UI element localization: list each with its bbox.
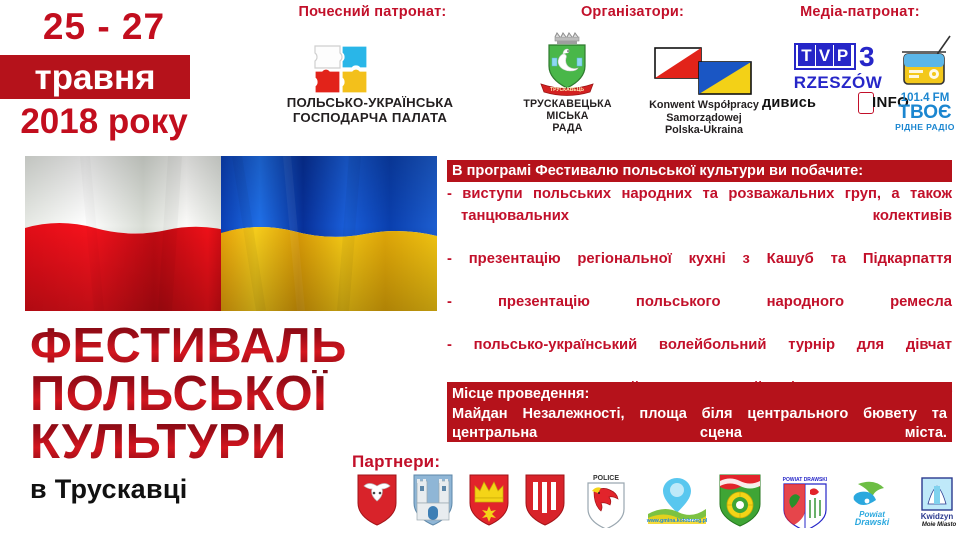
radio-receiver-icon	[896, 34, 958, 92]
powiat-drawski-caption: POWIAT DRAWSKI	[783, 477, 828, 483]
poster-root: 25 - 27 травня 2018 року Почесний патрон…	[0, 0, 960, 542]
tvp-city: RZESZÓW	[762, 73, 914, 93]
title-line-2: ПОЛЬСЬКОЇ	[30, 370, 430, 418]
kwidzyn-logo-icon: Kwidzyn Moje Miasto	[908, 474, 960, 531]
venue-address: Майдан Незалежності, площа біля централь…	[452, 405, 947, 464]
radio-subtitle: РІДНЕ РАДІО	[890, 122, 960, 132]
date-days: 25 - 27	[0, 6, 208, 48]
puzzle-icon	[309, 42, 387, 100]
partners-label: Партнери:	[352, 452, 440, 472]
organizer1-name-line1: ТРУСКАВЕЦЬКА	[515, 98, 620, 110]
organizers-column: Організатори:	[500, 4, 765, 20]
radio-name: ТВОЄ	[890, 103, 960, 122]
media-title: Медіа-патронат:	[760, 4, 960, 20]
partners-row: POLICE www.gmina.kolobrzeg.pl	[348, 472, 960, 538]
truskavets-ribbon-text: ТРУСКАВЕЦЬ	[550, 87, 584, 93]
venue-box: Місце проведення: Майдан Незалежності, п…	[447, 382, 952, 442]
truskavets-coat-of-arms-icon: ТРУСКАВЕЦЬ	[527, 32, 607, 98]
svg-text:POLICE: POLICE	[593, 475, 619, 482]
program-item: - польсько-український волейбольний турн…	[447, 335, 952, 378]
tvp-letter-t: T	[798, 45, 815, 66]
shield-castle-towers-icon	[410, 472, 456, 533]
program-item: - виступи польських народних та розважал…	[447, 184, 952, 249]
gmina-kolobrzeg-caption: www.gmina.kolobrzeg.pl	[644, 518, 710, 524]
organizer1-name: ТРУСКАВЕЦЬКА МІСЬКА РАДА	[515, 98, 620, 134]
program-item: - презентацію регіональної кухні з Кашуб…	[447, 249, 952, 292]
police-griffin-crest-icon: POLICE	[578, 472, 634, 533]
shield-bull-skull-icon	[354, 472, 400, 533]
tvp-letter-p: P	[834, 45, 851, 66]
date-month: травня	[0, 56, 190, 99]
patronage-org-name: ПОЛЬСЬКО-УКРАЇНСЬКА ГОСПОДАРЧА ПАЛАТА	[245, 96, 495, 125]
date-year: 2018 року	[0, 102, 208, 142]
tvp3-logo: T V P 3	[794, 43, 882, 71]
konwent-flags-icon	[651, 44, 757, 100]
powiat-green-crest-icon	[716, 472, 764, 533]
organizer2-name: Konwent Współpracy Samorządowej Polska-U…	[626, 99, 782, 137]
svg-text:Kwidzyn: Kwidzyn	[921, 512, 954, 521]
powiat-drawski-crest-icon: POWIAT DRAWSKI	[776, 474, 834, 533]
svg-text:Moje Miasto: Moje Miasto	[922, 522, 957, 526]
organizer2-name-line1: Konwent Współpracy	[626, 99, 782, 112]
program-item: - презентацію польського народного ремес…	[447, 292, 952, 335]
patronage-org-name-line1: ПОЛЬСЬКО-УКРАЇНСЬКА	[245, 96, 495, 111]
organizers-title: Організатори:	[500, 4, 765, 20]
powiat-drawski-leaf-logo-icon: Powiat Drawski	[842, 474, 902, 531]
shield-crown-star-icon	[466, 472, 512, 533]
program-heading: В програмі Фестивалю польської культури …	[447, 160, 952, 182]
organizer1-name-line3: РАДА	[515, 122, 620, 134]
organizer2-name-line2: Samorządowej	[626, 112, 782, 125]
patronage-title: Почесний патронат:	[245, 4, 500, 20]
venue-heading: Місце проведення:	[452, 385, 947, 405]
tvp-letter-v: V	[816, 45, 833, 66]
media-column: Медіа-патронат:	[760, 4, 960, 20]
patronage-org-name-line2: ГОСПОДАРЧА ПАЛАТА	[245, 111, 495, 126]
patronage-column: Почесний патронат:	[245, 4, 500, 20]
date-block: 25 - 27 травня 2018 року	[0, 6, 208, 148]
title-line-1: ФЕСТИВАЛЬ	[30, 322, 430, 370]
organizer1-name-line2: МІСЬКА	[515, 110, 620, 122]
organizer2-name-line3: Polska-Ukraina	[626, 124, 782, 137]
poland-ukraine-flags-image	[25, 156, 437, 311]
svg-text:Drawski: Drawski	[855, 517, 890, 526]
shield-three-stripes-icon	[522, 472, 568, 533]
tvp-channel-number: 3	[859, 42, 875, 71]
